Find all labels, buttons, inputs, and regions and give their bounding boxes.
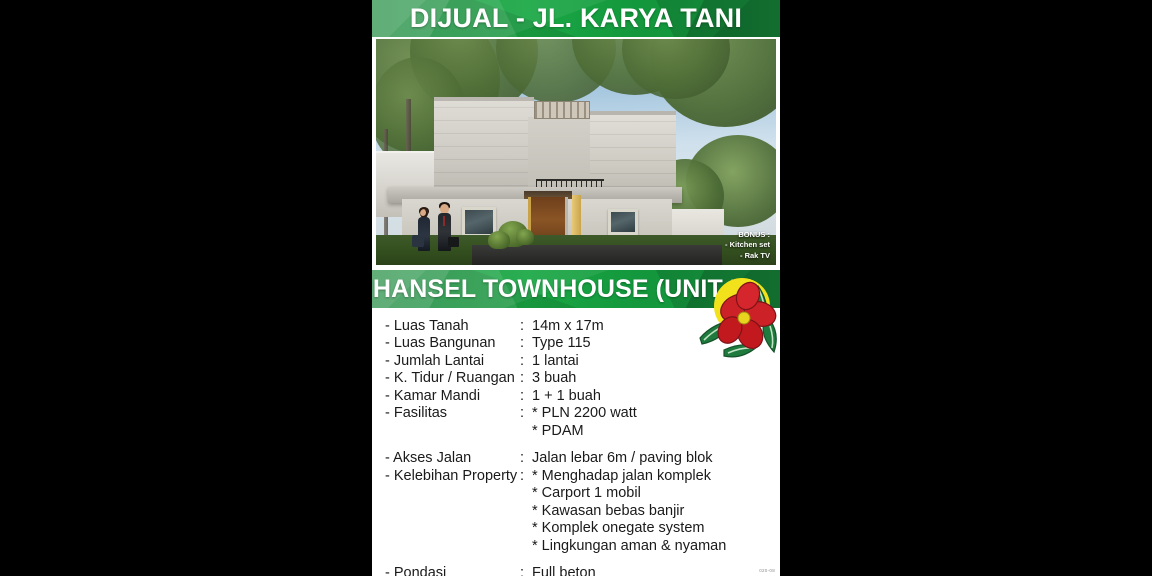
subtitle-banner: HANSEL TOWNHOUSE (UNIT E): [372, 270, 780, 308]
page-background: DIJUAL - JL. KARYA TANI: [0, 0, 1152, 576]
spec-colon: :: [520, 405, 532, 422]
spec-row: - Akses Jalan : Jalan lebar 6m / paving …: [372, 450, 780, 467]
spec-value: * Lingkungan aman & nyaman: [532, 538, 780, 555]
briefcase-icon: [448, 237, 459, 247]
spec-row: - Luas Bangunan : Type 115: [372, 335, 780, 352]
spec-value: 14m x 17m: [532, 318, 780, 335]
facade-slats: [434, 107, 534, 193]
spec-label: - K. Tidur / Ruangan: [372, 370, 520, 387]
spec-colon: :: [520, 335, 532, 352]
handbag-icon: [412, 235, 424, 247]
spec-colon: :: [520, 318, 532, 335]
spec-label: - Kamar Mandi: [372, 388, 520, 405]
bonus-item: - Kitchen set: [725, 240, 770, 250]
spec-row-continuation: * Carport 1 mobil: [372, 485, 780, 502]
necktie: [443, 216, 445, 226]
spec-value: 3 buah: [532, 370, 780, 387]
spec-value: 1 lantai: [532, 353, 780, 370]
spec-label: - Jumlah Lantai: [372, 353, 520, 370]
spec-colon: :: [520, 468, 532, 485]
spec-label: - Luas Tanah: [372, 318, 520, 335]
poster-title: DIJUAL - JL. KARYA TANI: [410, 3, 742, 34]
spec-value: * Carport 1 mobil: [532, 485, 780, 502]
shrub-plant: [488, 231, 510, 249]
corner-code-watermark: 020-08: [759, 568, 775, 573]
spec-value: * PDAM: [532, 423, 780, 440]
spec-row: - Fasilitas : * PLN 2200 watt: [372, 405, 780, 422]
spec-colon: :: [520, 370, 532, 387]
spec-row: - Pondasi : Full beton: [372, 565, 780, 576]
spec-value: * Menghadap jalan komplek: [532, 468, 780, 485]
spec-value: Type 115: [532, 335, 780, 352]
spec-colon: :: [520, 353, 532, 370]
spec-row: - Luas Tanah : 14m x 17m: [372, 318, 780, 335]
house-upper-left-mass: [434, 97, 534, 193]
property-flyer-poster: DIJUAL - JL. KARYA TANI: [372, 0, 780, 576]
spec-colon: :: [520, 450, 532, 467]
bonus-heading: BONUS :: [725, 230, 770, 240]
spec-row: - Kelebihan Property : * Menghadap jalan…: [372, 468, 780, 485]
spec-row-continuation: * Kawasan bebas banjir: [372, 503, 780, 520]
driveway-carport: [472, 245, 722, 265]
spec-colon: :: [520, 565, 532, 576]
spec-value: 1 + 1 buah: [532, 388, 780, 405]
house-render-photo: BONUS : - Kitchen set - Rak TV: [376, 39, 776, 265]
spec-label: - Akses Jalan: [372, 450, 520, 467]
spec-label: - Luas Bangunan: [372, 335, 520, 352]
spec-label: - Kelebihan Property: [372, 468, 520, 485]
spec-row-continuation: * Lingkungan aman & nyaman: [372, 538, 780, 555]
spec-row-continuation: * PDAM: [372, 423, 780, 440]
poster-subtitle: HANSEL TOWNHOUSE (UNIT E): [373, 275, 755, 304]
spec-row: - K. Tidur / Ruangan : 3 buah: [372, 370, 780, 387]
spec-value: * PLN 2200 watt: [532, 405, 780, 422]
spec-value: Jalan lebar 6m / paving blok: [532, 450, 780, 467]
spec-row: - Jumlah Lantai : 1 lantai: [372, 353, 780, 370]
spec-label: - Pondasi: [372, 565, 520, 576]
house-photo-frame: BONUS : - Kitchen set - Rak TV: [372, 37, 780, 266]
bonus-overlay: BONUS : - Kitchen set - Rak TV: [725, 230, 770, 261]
shrub-plant: [516, 229, 534, 245]
spec-value: Full beton: [532, 565, 780, 576]
roof-balustrade: [534, 101, 590, 119]
window-right: [608, 209, 638, 235]
spec-colon: :: [520, 388, 532, 405]
spec-label: - Fasilitas: [372, 405, 520, 422]
title-banner: DIJUAL - JL. KARYA TANI: [372, 0, 780, 37]
spec-value: * Kawasan bebas banjir: [532, 503, 780, 520]
specification-list: - Luas Tanah : 14m x 17m - Luas Bangunan…: [372, 308, 780, 576]
bonus-item: - Rak TV: [725, 251, 770, 261]
spec-row: - Kamar Mandi : 1 + 1 buah: [372, 388, 780, 405]
spec-row-continuation: * Komplek onegate system: [372, 520, 780, 537]
spec-value: * Komplek onegate system: [532, 520, 780, 537]
